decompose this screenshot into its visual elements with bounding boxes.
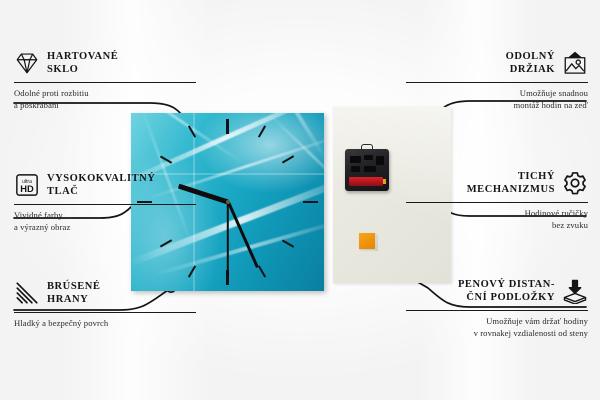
feature-desc-line2: a poškrábání xyxy=(14,100,196,112)
feature-title: HARTOVANÉ SKLO xyxy=(47,50,118,77)
feature-desc-line2: a výrazný obraz xyxy=(14,222,196,234)
feature-desc-line1: Umožňuje snadnou xyxy=(406,88,588,100)
divider xyxy=(406,82,588,83)
feature-title: BRÚSENÉ HRANY xyxy=(47,280,100,307)
feature-header: ultra HD VYSOKOKVALITNÝ TLAČ xyxy=(14,172,196,199)
arrow-onto-layers-icon xyxy=(562,278,588,304)
gear-icon xyxy=(562,170,588,196)
foam-spacer-pad xyxy=(359,233,375,249)
feature-silent-mechanism: TICHÝ MECHANIZMUS Hodinové ručičky bez z… xyxy=(406,170,588,232)
feature-title: PENOVÝ DISTAN- ČNÍ PODLOŽKY xyxy=(458,278,555,305)
movement-slot xyxy=(350,156,361,163)
feature-title: ODOLNÝ DRŽIAK xyxy=(506,50,555,77)
diamond-icon xyxy=(14,50,40,76)
ultra-hd-badge-icon: ultra HD xyxy=(14,172,40,198)
feature-desc-line1: Hodinové ručičky xyxy=(406,208,588,220)
feature-durable-holder: ODOLNÝ DRŽIAK Umožňuje snadnou montáž ho… xyxy=(406,50,588,112)
movement-slot xyxy=(376,156,384,165)
feature-desc-line1: Vividné farby xyxy=(14,210,196,222)
feature-header: ODOLNÝ DRŽIAK xyxy=(406,50,588,77)
feature-desc-line2: v rovnakej vzdialenosti od steny xyxy=(406,328,588,340)
feature-title: VYSOKOKVALITNÝ TLAČ xyxy=(47,172,155,199)
picture-hanger-icon xyxy=(562,50,588,76)
feature-header: PENOVÝ DISTAN- ČNÍ PODLOŽKY xyxy=(406,278,588,305)
infographic-canvas: HARTOVANÉ SKLO Odolné proti rozbitiu a p… xyxy=(0,0,600,400)
feature-header: TICHÝ MECHANIZMUS xyxy=(406,170,588,197)
feature-desc-line1: Odolné proti rozbitiu xyxy=(14,88,196,100)
hanger-loop-icon xyxy=(361,144,373,151)
feature-polished-edges: BRÚSENÉ HRANY Hladký a bezpečný povrch xyxy=(14,280,196,330)
feature-desc-line2: montáž hodin na zeď xyxy=(406,100,588,112)
feature-header: BRÚSENÉ HRANY xyxy=(14,280,196,307)
svg-text:HD: HD xyxy=(20,184,34,194)
feature-foam-spacers: PENOVÝ DISTAN- ČNÍ PODLOŽKY Umožňuje vám… xyxy=(406,278,588,340)
divider xyxy=(406,310,588,311)
clock-movement xyxy=(345,149,389,191)
movement-slot xyxy=(351,166,360,172)
movement-slot xyxy=(364,166,376,172)
battery xyxy=(349,177,383,186)
feature-desc-line2: bez zvuku xyxy=(406,220,588,232)
divider xyxy=(14,82,196,83)
divider xyxy=(14,312,196,313)
feature-desc-line1: Umožňuje vám držať hodiny xyxy=(406,316,588,328)
brushed-edges-icon xyxy=(14,280,40,306)
feature-header: HARTOVANÉ SKLO xyxy=(14,50,196,77)
movement-slot xyxy=(364,155,373,160)
clock-center-pin xyxy=(226,200,230,204)
feature-desc-line1: Hladký a bezpečný povrch xyxy=(14,318,196,330)
divider xyxy=(14,204,196,205)
divider xyxy=(406,202,588,203)
feature-tempered-glass: HARTOVANÉ SKLO Odolné proti rozbitiu a p… xyxy=(14,50,196,112)
feature-title: TICHÝ MECHANIZMUS xyxy=(467,170,555,197)
feature-high-quality-print: ultra HD VYSOKOKVALITNÝ TLAČ Vividné far… xyxy=(14,172,196,234)
second-hand xyxy=(227,202,229,276)
